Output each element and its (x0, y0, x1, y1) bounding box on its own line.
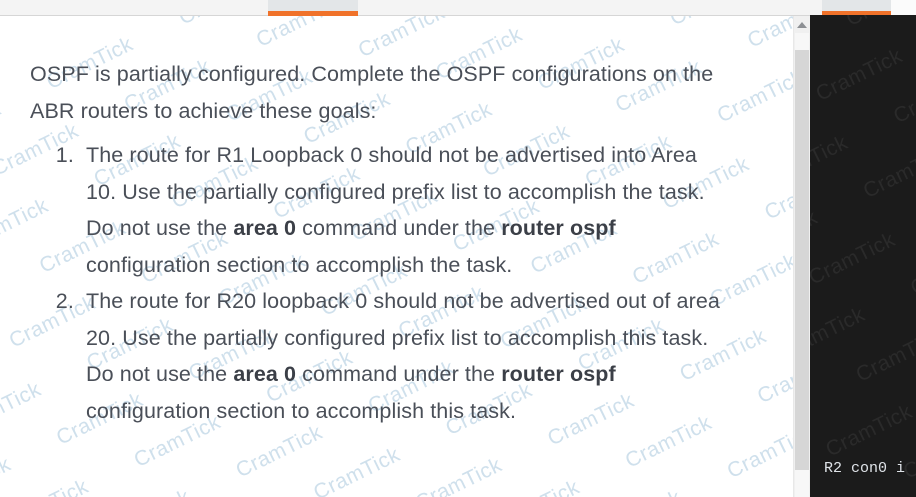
goal-emphasis: area 0 (233, 216, 296, 240)
app-root: CramTickCramTickCramTickCramTickCramTick… (0, 0, 916, 497)
watermark-row: CramTickCramTick (810, 31, 913, 185)
goal-item: The route for R1 Loopback 0 should not b… (80, 137, 733, 283)
watermark-row: CramTickCramTick (816, 322, 916, 476)
terminal-output-line: R2 con0 i (824, 460, 905, 477)
watermark-text: CramTick (860, 141, 916, 202)
goal-text: command under the (296, 362, 501, 386)
goal-text: configuration section to accomplish the … (86, 253, 512, 277)
watermark-text: CramTick (724, 422, 793, 483)
watermark-row: CramTickCramTick (810, 79, 916, 233)
tab-strip-right-gutter (891, 0, 916, 16)
watermark-row: CramTickCramTick (839, 371, 916, 497)
document-body: OSPF is partially configured. Complete t… (0, 16, 793, 429)
watermark-text: CramTick (490, 476, 584, 497)
watermark-row: CramTickCramTick (810, 176, 916, 330)
goal-list: The route for R1 Loopback 0 should not b… (30, 137, 733, 429)
watermark-text: CramTick (0, 475, 92, 497)
watermark-text: CramTick (822, 400, 916, 461)
watermark-text: CramTick (810, 131, 851, 192)
watermark-row: CramTickCramTick (810, 274, 916, 428)
watermark-text: CramTick (810, 303, 869, 364)
goal-text: command under the (296, 216, 501, 240)
tab-active-right[interactable] (822, 0, 891, 16)
watermark-row: CramTickCramTick (810, 15, 866, 88)
watermark-row: CramTickCramTick (810, 128, 916, 282)
watermark-text: CramTick (810, 206, 821, 267)
watermark-text: CramTick (0, 453, 14, 497)
scrollbar-thumb[interactable] (795, 50, 809, 470)
terminal-watermark-overlay: CramTickCramTickCramTickCramTickCramTick… (810, 15, 916, 497)
watermark-text: CramTick (412, 453, 506, 497)
triangle-up-icon[interactable] (794, 16, 810, 33)
goal-emphasis: router ospf (501, 362, 616, 386)
watermark-text: CramTick (810, 228, 899, 289)
vertical-scrollbar[interactable] (793, 16, 810, 497)
watermark-text: CramTick (100, 485, 194, 497)
goal-emphasis: area 0 (233, 362, 296, 386)
watermark-row: CramTickCramTick (810, 15, 889, 136)
goal-text: configuration section to accomplish this… (86, 399, 516, 423)
watermark-text: CramTick (890, 67, 916, 128)
watermark-text: CramTick (907, 238, 916, 299)
tab-strip (0, 0, 916, 16)
document-pane: CramTickCramTickCramTickCramTickCramTick… (0, 16, 793, 497)
watermark-text: CramTick (310, 443, 404, 497)
watermark-text: CramTick (591, 486, 685, 497)
watermark-text: CramTick (812, 44, 906, 105)
terminal-panel[interactable]: CramTickCramTickCramTickCramTickCramTick… (810, 15, 916, 497)
watermark-text: CramTick (852, 325, 916, 386)
watermark-row: CramTickCramTick (863, 419, 916, 497)
instructions-paragraph: OSPF is partially configured. Complete t… (30, 56, 733, 129)
tab-active-left[interactable] (268, 0, 358, 16)
watermark-text: CramTick (232, 421, 326, 482)
goal-item: The route for R20 loopback 0 should not … (80, 283, 733, 429)
watermark-text: CramTick (843, 15, 916, 31)
watermark-row: CramTickCramTick (810, 225, 916, 379)
goal-emphasis: router ospf (501, 216, 616, 240)
